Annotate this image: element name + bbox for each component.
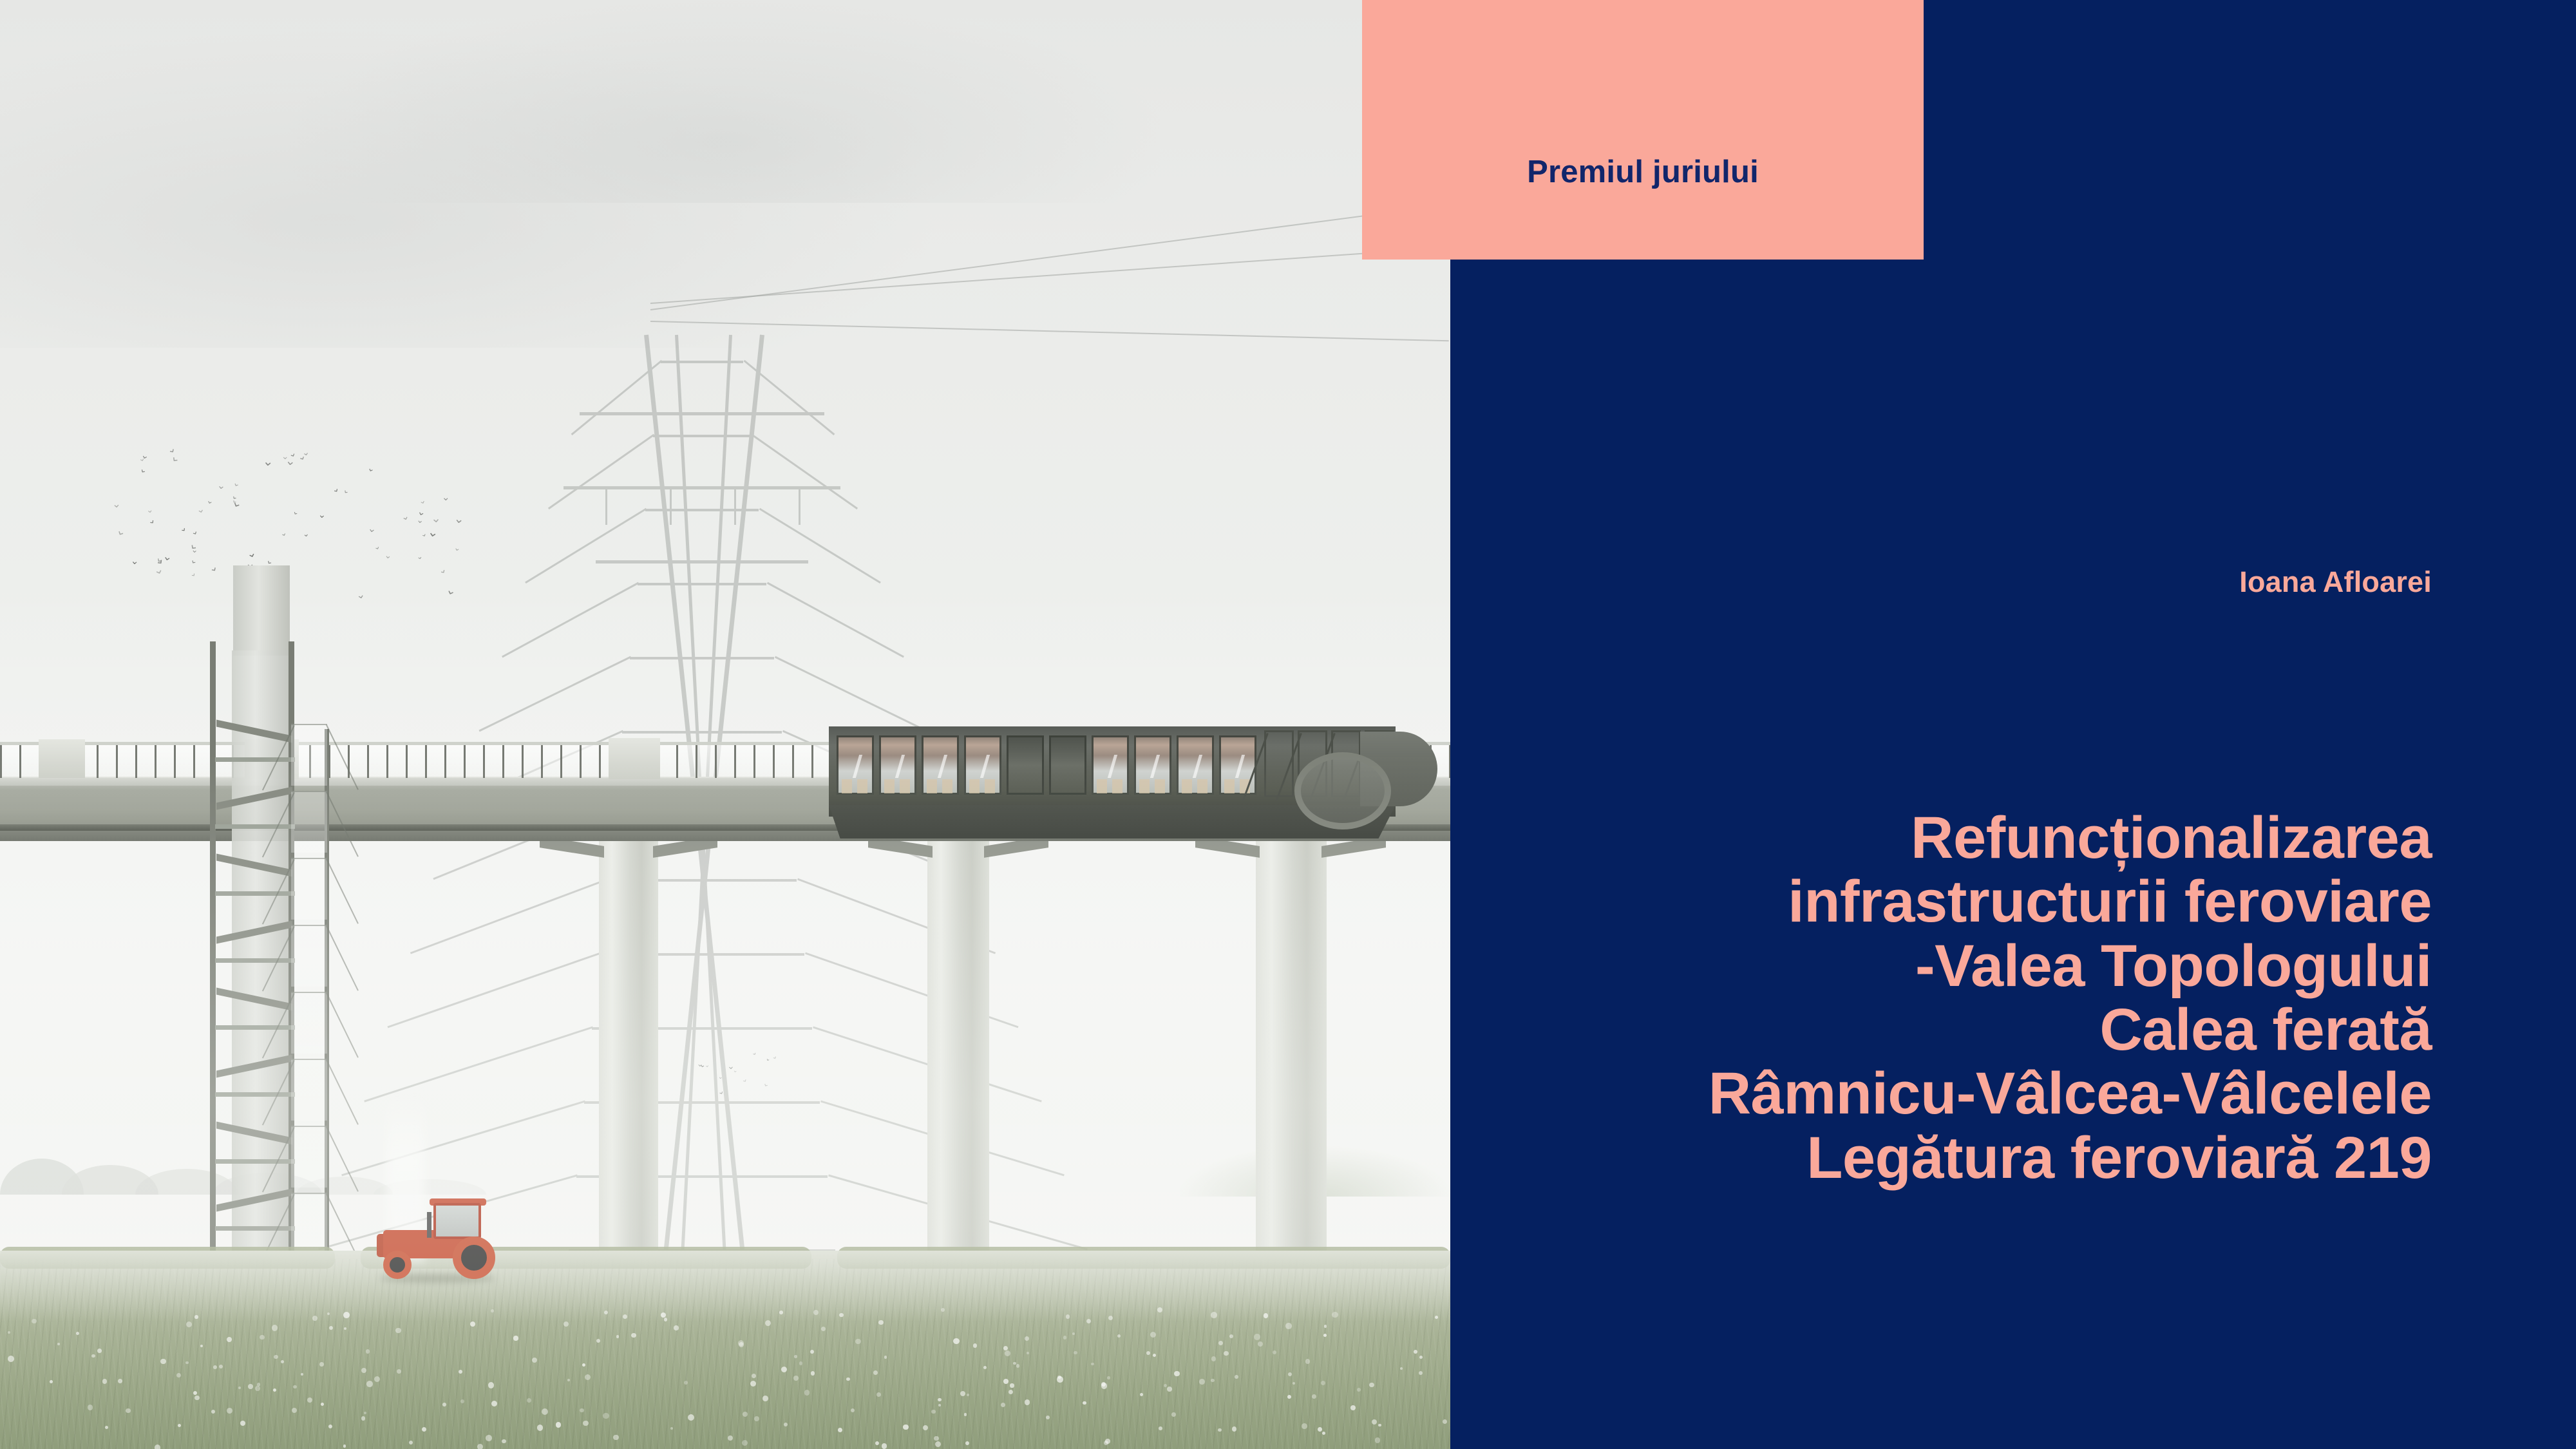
train-seat [1139, 779, 1150, 793]
deck-parapet-block [609, 738, 660, 779]
wildflower [1009, 1390, 1013, 1394]
train-seat [884, 779, 895, 793]
wildflower [459, 1370, 462, 1374]
wildflower [409, 1441, 413, 1444]
wildflower [604, 1311, 608, 1314]
wildflower [1350, 1405, 1356, 1410]
wildflower [364, 1412, 366, 1414]
wildflower [876, 1392, 881, 1397]
wildflower [185, 1361, 189, 1365]
wildflower [585, 1374, 591, 1381]
train-seat [969, 779, 980, 793]
train-seat [1197, 779, 1207, 793]
bird-icon: ⌄ [206, 561, 220, 575]
wildflower [91, 1354, 95, 1358]
pylon-crossarm [580, 412, 824, 415]
wildflower [882, 1443, 887, 1448]
stair-landing [215, 891, 295, 896]
wildflower [1264, 1313, 1269, 1318]
wildflower [1146, 1351, 1150, 1355]
wildflower [873, 1370, 878, 1375]
wildflower [794, 1355, 797, 1358]
wildflower [460, 1399, 464, 1403]
wildflower [1211, 1356, 1216, 1361]
wildflower [307, 1397, 312, 1403]
wildflower [57, 1343, 60, 1345]
wildflower [176, 1373, 181, 1378]
title-line-4: Calea ferată [1466, 998, 2432, 1062]
train-seat [842, 779, 852, 793]
bird-icon: ⌄ [177, 523, 189, 535]
wildflower [88, 1405, 93, 1410]
wildflower [1072, 1332, 1075, 1336]
wildflower [274, 1355, 278, 1359]
wildflower [670, 1427, 673, 1430]
wildflower [1066, 1314, 1070, 1319]
wildflower [811, 1371, 815, 1376]
stair-glass-balustrade [291, 1059, 327, 1121]
wildflower [613, 1435, 618, 1440]
bird-icon: ⌄ [426, 526, 439, 541]
wildflower [366, 1349, 370, 1353]
wildflower [1046, 1416, 1050, 1419]
wildflower [1322, 1432, 1325, 1435]
wildflower [1083, 1401, 1086, 1405]
wildflower [1105, 1439, 1110, 1443]
wildflower [1378, 1424, 1381, 1426]
pier-shaft [599, 841, 658, 1266]
wildflower [821, 1327, 826, 1331]
wildflower [750, 1381, 756, 1387]
wildflower [486, 1435, 492, 1441]
stair-landing [215, 1092, 295, 1097]
award-badge-label: Premiul juriului [1527, 154, 1759, 190]
pylon-insulator [799, 489, 800, 525]
wildflower [186, 1321, 193, 1328]
wildflower [851, 1408, 855, 1412]
pier-shaft [927, 841, 989, 1266]
project-title: Refuncționalizarea infrastructurii ferov… [1466, 806, 2432, 1190]
train-seat [1155, 779, 1165, 793]
bird-icon: ⌄ [341, 486, 352, 496]
wildflower [361, 1416, 366, 1421]
wildflower [1305, 1359, 1310, 1363]
wildflower [395, 1328, 401, 1334]
wildflower [1013, 1362, 1016, 1365]
wildflower [272, 1325, 278, 1331]
title-line-2: infrastructurii feroviare [1466, 870, 2432, 934]
wildflower [257, 1383, 260, 1386]
wildflower [513, 1336, 518, 1340]
pylon-belt [661, 361, 743, 363]
wildflower [1419, 1371, 1423, 1375]
spiral-stair [1294, 752, 1391, 829]
wildflower [1091, 1363, 1094, 1365]
bird-icon: ⌄ [216, 480, 226, 491]
wildflower [1001, 1403, 1005, 1407]
wildflower [742, 1440, 748, 1446]
wildflower [1003, 1379, 1009, 1384]
stair-glass-balustrade [291, 1126, 327, 1188]
bird-icon: ⌄ [111, 498, 121, 509]
architectural-render: ⌄⌄⌄⌄⌄⌄⌄⌄⌄⌄⌄⌄⌄⌄⌄⌄⌄⌄⌄⌄⌄⌄⌄⌄⌄⌄⌄⌄⌄⌄⌄⌄⌄⌄⌄⌄⌄⌄⌄⌄… [0, 0, 1450, 1449]
wildflower [1372, 1419, 1377, 1425]
wildflower [1312, 1394, 1316, 1399]
wildflower [779, 1311, 783, 1314]
stair-glass-balustrade [291, 858, 327, 920]
wildflower [1419, 1356, 1423, 1359]
wildflower [563, 1321, 569, 1327]
wildflower [1086, 1319, 1091, 1323]
wildflower [793, 1376, 799, 1381]
wildflower [1369, 1383, 1374, 1387]
wildflower [953, 1338, 959, 1344]
wildflower [240, 1421, 245, 1426]
wildflower [799, 1361, 802, 1365]
wildflower [477, 1444, 483, 1449]
wildflower [397, 1369, 401, 1374]
bird-icon: ⌄ [187, 569, 198, 579]
wildflower [470, 1321, 475, 1327]
wildflower [1057, 1376, 1063, 1383]
wildflower [583, 1421, 588, 1426]
wildflower [491, 1401, 497, 1406]
wildflower [743, 1412, 748, 1417]
wildflower [102, 1379, 108, 1384]
train-seat [942, 779, 952, 793]
author-name: Ioana Afloarei [2239, 565, 2432, 599]
wildflower [1302, 1423, 1307, 1429]
wildflower [343, 1444, 346, 1447]
wildflower [118, 1379, 122, 1383]
wildflower [155, 1444, 161, 1449]
wildflower [1414, 1350, 1417, 1354]
bird-icon: ⌄ [187, 538, 202, 554]
wildflower [312, 1316, 317, 1321]
bird-icon: ⌄ [431, 512, 442, 525]
wildflower [960, 1391, 965, 1396]
wildflower [238, 1387, 241, 1389]
wildflower [219, 1365, 223, 1368]
wildflower [1025, 1399, 1030, 1405]
bird-icon: ⌄ [115, 524, 129, 540]
wildflower [804, 1390, 810, 1395]
wildflower [616, 1335, 620, 1338]
bird-icon: ⌄ [146, 505, 154, 515]
wildflower [1167, 1387, 1172, 1392]
wildflower [1435, 1316, 1438, 1319]
stair-glass-balustrade [291, 992, 327, 1054]
wildflower [1293, 1382, 1295, 1385]
wildflower [1232, 1426, 1236, 1431]
bird-icon: ⌄ [138, 464, 149, 477]
wildflower [983, 1366, 987, 1369]
wildflower [965, 1441, 970, 1446]
train-window [1049, 735, 1086, 795]
bird-icon: ⌄ [417, 495, 427, 506]
bird-icon: ⌄ [366, 463, 376, 474]
wildflower [1287, 1395, 1291, 1399]
train-seat [1182, 779, 1192, 793]
wildflower [1375, 1437, 1380, 1443]
wildflower [1273, 1350, 1276, 1354]
wildflower [781, 1367, 787, 1372]
bird-icon: ⌄ [444, 583, 458, 598]
deck-parapet-block [39, 739, 85, 778]
train-seat [1112, 779, 1122, 793]
wildflower [941, 1308, 945, 1312]
wildflower [1323, 1334, 1327, 1337]
wildflower [194, 1396, 200, 1401]
wildflower [1218, 1428, 1221, 1432]
train-seat [927, 779, 937, 793]
bird-icon: ⌄ [262, 455, 274, 469]
bird-icon: ⌄ [205, 496, 215, 506]
wildflower [194, 1315, 198, 1318]
bird-icon: ⌄ [400, 511, 411, 523]
pylon-belt [638, 583, 766, 585]
wildflower [422, 1427, 426, 1432]
wildflower [329, 1326, 333, 1330]
wildflower [664, 1318, 667, 1321]
wildflower [1153, 1354, 1156, 1357]
wildflower [301, 1373, 303, 1376]
viaduct-pier [1256, 841, 1327, 1266]
wildflowers [0, 1307, 1450, 1449]
wildflower [661, 1312, 666, 1318]
pylon-belt [645, 509, 759, 511]
wildflower [784, 1423, 788, 1426]
bird-icon: ⌄ [279, 528, 288, 538]
wildflower [491, 1309, 494, 1312]
wildflower [903, 1425, 908, 1430]
wildflower [502, 1439, 506, 1444]
stair-landing [215, 824, 295, 829]
title-line-3: -Valea Topologului [1466, 934, 2432, 998]
train-seat [1224, 779, 1235, 793]
bird-icon: ⌄ [292, 507, 301, 517]
bird-icon: ⌄ [232, 478, 242, 489]
bird-icon: ⌄ [355, 589, 366, 601]
wildflower [366, 1381, 373, 1387]
wildflower [878, 1320, 884, 1325]
wildflower [1157, 1307, 1162, 1312]
wildflower [1016, 1364, 1020, 1368]
wildflower [754, 1416, 759, 1421]
wildflower [884, 1356, 887, 1358]
wildflower [752, 1374, 756, 1378]
award-badge: Premiul juriului [1362, 0, 1924, 260]
wildflower [762, 1396, 768, 1401]
bird-icon: ⌄ [442, 493, 450, 503]
wildflower [532, 1358, 537, 1363]
lift-overrun-head [233, 565, 290, 656]
wildflower [631, 1333, 636, 1338]
wildflower [556, 1422, 562, 1428]
wildflower [178, 1424, 181, 1427]
wildflower [973, 1343, 977, 1347]
pylon-insulator [734, 489, 736, 525]
cloud-wash-secondary [290, 0, 1160, 203]
wildflower [327, 1312, 330, 1315]
wildflower [1229, 1334, 1233, 1338]
wildflower [1321, 1381, 1325, 1385]
wildflower [292, 1408, 297, 1413]
wildflower [1063, 1336, 1066, 1339]
bird-icon: ⌄ [196, 504, 206, 516]
wildflower [839, 1313, 843, 1317]
stair-glass-balustrade [291, 791, 327, 853]
bird-icon: ⌄ [384, 551, 392, 561]
wildflower [1199, 1379, 1205, 1385]
bird-icon: ⌄ [330, 484, 341, 495]
wildflower [527, 1398, 531, 1403]
wildflower [1318, 1427, 1322, 1432]
stair-landing [215, 958, 295, 963]
wildflower [934, 1436, 939, 1441]
wildflower [1443, 1419, 1447, 1424]
title-line-6: Legătura feroviară 219 [1466, 1126, 2432, 1190]
tractor-front-wheel [383, 1251, 412, 1279]
pylon-crossarm [596, 560, 808, 563]
wildflower [1108, 1316, 1113, 1320]
wildflower [567, 1379, 570, 1381]
train-seat [857, 779, 867, 793]
wildflower [32, 1319, 37, 1324]
wildflower [361, 1368, 366, 1373]
wildflower [596, 1339, 600, 1343]
wildflower [1150, 1332, 1156, 1338]
wildflower [1235, 1375, 1238, 1379]
wildflower [248, 1384, 253, 1389]
wildflower [931, 1410, 936, 1414]
wildflower [200, 1345, 204, 1348]
title-line-1: Refuncționalizarea [1466, 806, 2432, 870]
wildflower [1074, 1351, 1077, 1355]
wildflower [1332, 1312, 1338, 1318]
wildflower [810, 1350, 814, 1354]
bird-icon: ⌄ [416, 553, 424, 562]
wildflower [1107, 1376, 1110, 1379]
wildflower [442, 1403, 446, 1406]
wildflower [1174, 1371, 1179, 1376]
wildflower [739, 1342, 744, 1347]
wildflower [855, 1339, 861, 1345]
wildflower [193, 1391, 197, 1395]
pylon-belt [630, 657, 773, 659]
bird-icon: ⌄ [367, 524, 377, 535]
train-window [1007, 735, 1044, 795]
wildflower [1164, 1384, 1167, 1387]
train-seat [1097, 779, 1107, 793]
bird-icon: ⌄ [130, 556, 139, 567]
wildflower [211, 1410, 215, 1414]
pylon-insulator [670, 489, 672, 525]
bird-icon: ⌄ [417, 506, 428, 518]
wildflower [1400, 1367, 1403, 1370]
stair-lift-tower [210, 650, 332, 1294]
wildflower [1159, 1426, 1162, 1430]
wildflower [97, 1349, 101, 1352]
bird-icon: ⌄ [437, 564, 448, 576]
wildflower [160, 1359, 166, 1364]
wildflower [1117, 1334, 1121, 1338]
wildflower [580, 1408, 583, 1412]
wildflower [603, 1413, 609, 1419]
bird-icon: ⌄ [372, 542, 381, 552]
wildflower [684, 1381, 688, 1385]
wildflower [1224, 1351, 1228, 1356]
wildflower [1025, 1336, 1029, 1341]
wildflower [227, 1408, 232, 1414]
wildflower [838, 1428, 842, 1432]
pylon-belt [622, 731, 781, 734]
stair-landing [215, 1159, 295, 1164]
pylon-belt [653, 435, 751, 437]
wildflower [488, 1382, 495, 1388]
wildflower [935, 1441, 941, 1447]
wildflower [938, 1404, 941, 1406]
wildflower [374, 1376, 380, 1382]
wildflower [688, 1414, 694, 1421]
wildflower [813, 1310, 819, 1316]
tractor [377, 1197, 506, 1280]
bird-icon: ⌄ [189, 555, 200, 567]
stair-landing [215, 1025, 295, 1030]
viaduct-pier [927, 841, 989, 1266]
tractor-exhaust [427, 1212, 431, 1238]
wildflower [1171, 1412, 1176, 1417]
wildflower [1027, 1352, 1029, 1354]
stair-glass-balustrade [291, 1193, 327, 1255]
bird-icon: ⌄ [303, 530, 310, 539]
bird-icon: ⌄ [453, 513, 465, 526]
wildflower [1218, 1341, 1223, 1345]
bird-flock: ⌄⌄⌄⌄⌄⌄⌄⌄⌄⌄⌄⌄⌄⌄⌄⌄⌄⌄⌄⌄⌄⌄⌄⌄⌄⌄⌄⌄⌄⌄⌄⌄⌄⌄⌄⌄⌄⌄⌄⌄… [109, 444, 470, 612]
tower-column [210, 641, 216, 1296]
wildflower [938, 1398, 941, 1401]
stair-glass-balustrade [291, 724, 327, 786]
wildflower [1005, 1350, 1010, 1356]
wildflower [281, 1360, 285, 1364]
train-seat [985, 779, 995, 793]
wildflower [344, 1327, 346, 1330]
bird-icon: ⌄ [318, 511, 327, 520]
wildflower [1324, 1325, 1327, 1328]
wildflower [1010, 1383, 1014, 1387]
wildflower [1285, 1323, 1292, 1329]
wildflower [1254, 1334, 1260, 1340]
wildflower [537, 1425, 544, 1431]
wildflower [728, 1435, 733, 1441]
wildflower [319, 1362, 324, 1367]
wildflower [765, 1320, 771, 1326]
wildflower [8, 1356, 14, 1362]
bird-icon: ⌄ [189, 526, 200, 538]
wildflower [321, 1403, 324, 1406]
wildflower [293, 1385, 297, 1389]
viaduct-pier [599, 841, 658, 1266]
train-seat [900, 779, 910, 793]
stair-glass-balustrade [291, 925, 327, 987]
wildflower [76, 1332, 79, 1335]
wildflower [846, 1378, 850, 1381]
wildflower [623, 1314, 627, 1319]
pylon-insulator [605, 489, 607, 525]
wildflower [227, 1337, 232, 1342]
wildflower [8, 1331, 10, 1334]
wildflower [582, 1363, 585, 1367]
